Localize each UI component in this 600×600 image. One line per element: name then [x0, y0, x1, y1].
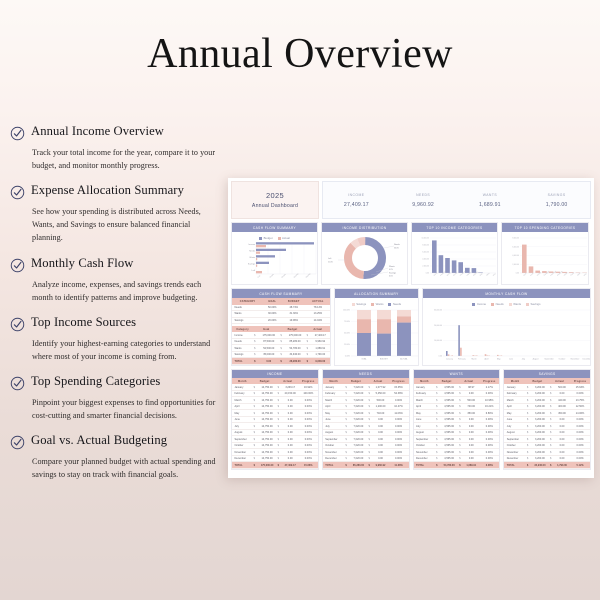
- svg-text:6,000.00: 6,000.00: [422, 252, 429, 254]
- feature-list: Annual Income Overview Track your total …: [10, 124, 228, 492]
- panel-income-distribution[interactable]: INCOME DISTRIBUTION: [321, 222, 408, 285]
- svg-text:Left: Left: [252, 269, 256, 272]
- spreadsheet-dashboard-preview[interactable]: 2025 Annual Dashboard INCOME 27,409.17 N…: [228, 178, 594, 478]
- feature-description: Track your total income for the year, co…: [32, 146, 222, 172]
- savings-rows: January$3,200.00$500.0015.63%February$3,…: [504, 384, 590, 468]
- svg-text:25.00%: 25.00%: [344, 344, 350, 346]
- page-title: Annual Overview: [0, 30, 600, 78]
- feature-description: Compare your planned budget with actual …: [32, 455, 222, 481]
- kpi-value: 1,790.00: [546, 202, 568, 208]
- needs-rows: January$7,020.00$1,077.9215.35%February$…: [323, 384, 409, 468]
- dashboard-subtitle: Annual Dashboard: [252, 203, 298, 209]
- check-circle-icon: [10, 258, 25, 273]
- table-total-row: TOTAL$85,280.00$9,960.9211.38%: [323, 462, 409, 469]
- kpi-value: 1,689.91: [479, 202, 501, 208]
- savings-monthly-table[interactable]: Month Budget Actual Progress January$3,2…: [504, 378, 590, 469]
- monthly-bar-chart: 30,000.0020,000.00 10,000.000.00: [425, 307, 591, 361]
- svg-text:50.00%: 50.00%: [344, 333, 350, 335]
- kpi-strip: INCOME 27,409.17 NEEDS 9,960.92 WANTS 1,…: [322, 181, 591, 219]
- axis-tick-label: May: [497, 359, 501, 361]
- svg-text:2,000.00: 2,000.00: [512, 264, 519, 266]
- table-total-row: TOTAL$175,000.00$27,409.1715.66%: [232, 462, 318, 469]
- svg-text:Other: Other: [485, 272, 490, 277]
- table-total-row: TOTAL$0.00$28,280.00$9,648.00: [232, 358, 330, 365]
- feature-title: Annual Income Overview: [31, 124, 164, 138]
- bar-chart-top-spending: 8,000.006,000.00 4,000.002,000.00 0.00: [504, 234, 588, 282]
- axis-tick-label: September: [544, 358, 554, 361]
- chart-legend: Income Needs Wants Savings: [425, 300, 588, 307]
- feature-title: Top Spending Categories: [31, 374, 160, 388]
- svg-text:36.3%: 36.3%: [394, 248, 399, 250]
- feature-description: See how your spending is distributed acr…: [32, 205, 222, 244]
- panel-allocation-summary[interactable]: ALLOCATION SUMMARY Savings Wants Needs: [334, 288, 419, 366]
- table-title: SAVINGS: [504, 370, 590, 378]
- svg-text:75.00%: 75.00%: [344, 321, 350, 323]
- table-panel-savings[interactable]: SAVINGS Month Budget Actual Progress Jan…: [503, 369, 591, 470]
- dashboard-header: 2025 Annual Dashboard INCOME 27,409.17 N…: [231, 181, 591, 219]
- check-circle-icon: [10, 126, 25, 141]
- svg-text:80,000: 80,000: [281, 274, 286, 279]
- legend-label: Wants: [376, 302, 384, 306]
- check-circle-icon: [10, 185, 25, 200]
- feature-title: Expense Allocation Summary: [31, 183, 184, 197]
- svg-text:Wants: Wants: [249, 256, 255, 259]
- feature-description: Analyze income, expenses, and savings tr…: [32, 278, 222, 304]
- svg-text:Transport: Transport: [543, 270, 550, 277]
- svg-text:Income: Income: [248, 244, 255, 246]
- kpi-wants: WANTS 1,689.91: [457, 182, 524, 218]
- legend-label: Savings: [356, 302, 366, 306]
- donut-label: Left: [328, 257, 332, 260]
- axis-tick-label: ACTUAL: [400, 358, 407, 361]
- horizontal-bar-chart: IncomeNeeds WantsSavings Left: [234, 241, 317, 281]
- feature-item: Top Income Sources Identify your highest…: [10, 315, 228, 363]
- section-title: CASH FLOW SUMMARY: [232, 289, 330, 298]
- section-title: INCOME DISTRIBUTION: [322, 223, 407, 232]
- panel-top-income-categories[interactable]: TOP 10 INCOME CATEGORIES 10,000.008,000.…: [411, 222, 498, 285]
- axis-tick-label: January: [446, 358, 453, 361]
- svg-text:0.00%: 0.00%: [345, 356, 350, 358]
- axis-tick-label: April: [484, 358, 488, 361]
- bar-chart-top-income: 10,000.008,000.00 6,000.004,000.00 2,000…: [414, 234, 497, 282]
- feature-description: Pinpoint your biggest expenses to find o…: [32, 396, 222, 422]
- income-monthly-table[interactable]: Month Budget Actual Progress January$14,…: [232, 378, 318, 469]
- monthly-tables-row: INCOME Month Budget Actual Progress Janu…: [231, 369, 591, 470]
- donut-chart: Left 51.3% Needs 36.3% Wants 6.2% Saving…: [324, 234, 407, 282]
- svg-text:Insurance: Insurance: [550, 271, 557, 277]
- table-panel-wants[interactable]: WANTS Month Budget Actual Progress Janua…: [413, 369, 501, 470]
- axis-tick-label: October: [559, 358, 566, 361]
- axis-tick-label: August: [533, 358, 539, 361]
- feature-item: Annual Income Overview Track your total …: [10, 124, 228, 172]
- income-rows: January$14,750.00$3,269.1716.92%February…: [232, 384, 318, 468]
- svg-text:0.00: 0.00: [257, 275, 261, 279]
- svg-text:0.00: 0.00: [516, 273, 519, 275]
- svg-text:Other: Other: [576, 272, 581, 277]
- svg-text:6.2%: 6.2%: [389, 269, 393, 271]
- legend-label: Wants: [513, 302, 521, 306]
- axis-tick-label: March: [471, 358, 476, 361]
- check-circle-icon: [10, 435, 25, 450]
- kpi-label: WANTS: [483, 193, 497, 197]
- svg-text:6,000.00: 6,000.00: [512, 246, 519, 248]
- axis-tick-label: BUDGET: [380, 359, 389, 361]
- donut-label: Needs: [394, 244, 400, 246]
- svg-text:0.00: 0.00: [438, 356, 442, 358]
- svg-text:Misc: Misc: [584, 273, 588, 277]
- axis-tick-label: February: [458, 358, 466, 361]
- axis-tick-label: GOAL: [361, 358, 366, 361]
- feature-item: Top Spending Categories Pinpoint your bi…: [10, 374, 228, 422]
- feature-item: Monthly Cash Flow Analyze income, expens…: [10, 256, 228, 304]
- table-total-row: TOTAL$34,940.00$1,790.005.12%: [504, 462, 590, 469]
- table-panel-needs[interactable]: NEEDS Month Budget Actual Progress Janua…: [322, 369, 410, 470]
- dashboard-brand: 2025 Annual Dashboard: [231, 181, 319, 219]
- kpi-label: SAVINGS: [548, 193, 566, 197]
- ratio-table[interactable]: CATEGORY GOAL BUDGET ACTUAL Needs50.00%4…: [232, 298, 330, 324]
- axis-tick-label: July: [522, 359, 525, 361]
- svg-text:Needs: Needs: [249, 251, 255, 253]
- axis-tick-label: June: [509, 359, 513, 361]
- chart-legend: Savings Wants Needs: [337, 300, 416, 307]
- charts-row-1: CASH FLOW SUMMARY Budget Actual Inco: [231, 222, 591, 285]
- check-circle-icon: [10, 376, 25, 391]
- kpi-label: INCOME: [348, 193, 364, 197]
- svg-text:10,000.00: 10,000.00: [421, 238, 429, 240]
- table-total-row: TOTAL$54,780.00$1,689.913.08%: [414, 462, 500, 469]
- panel-cash-flow-tables[interactable]: CASH FLOW SUMMARY CATEGORY GOAL BUDGET A…: [231, 288, 331, 366]
- svg-text:0.00: 0.00: [426, 273, 429, 275]
- section-title: MONTHLY CASH FLOW: [423, 289, 590, 298]
- svg-text:30,000.00: 30,000.00: [434, 310, 442, 312]
- check-circle-icon: [10, 317, 25, 332]
- axis-tick-label: November: [571, 358, 580, 361]
- svg-text:Food: Food: [530, 273, 534, 277]
- stacked-bar-chart: 100.00%75.00% 50.00%25.00% 0.00%: [337, 307, 419, 361]
- svg-text:4,000.00: 4,000.00: [422, 259, 429, 261]
- feature-title: Monthly Cash Flow: [31, 256, 133, 270]
- kpi-value: 9,960.92: [412, 202, 434, 208]
- wants-rows: January$4,565.00$98.972.17%February$4,56…: [414, 384, 500, 468]
- svg-text:Savings: Savings: [248, 264, 255, 266]
- kpi-value: 27,409.17: [344, 202, 369, 208]
- legend-label: Savings: [531, 302, 541, 306]
- feature-description: Identify your highest-earning categories…: [32, 337, 222, 363]
- kpi-income: INCOME 27,409.17: [323, 182, 390, 218]
- svg-text:6.5%: 6.5%: [389, 276, 393, 278]
- svg-text:8,000.00: 8,000.00: [512, 238, 519, 240]
- axis-tick-label: December: [583, 358, 591, 361]
- table-title: WANTS: [414, 370, 500, 378]
- legend-label: Needs: [393, 302, 401, 306]
- summary-table[interactable]: Category Goal Budget Actual Income$175,0…: [232, 326, 330, 365]
- wants-monthly-table[interactable]: Month Budget Actual Progress January$4,5…: [414, 378, 500, 469]
- svg-text:8,000.00: 8,000.00: [422, 245, 429, 247]
- charts-row-2: CASH FLOW SUMMARY CATEGORY GOAL BUDGET A…: [231, 288, 591, 366]
- section-title: CASH FLOW SUMMARY: [232, 223, 317, 232]
- feature-title: Goal vs. Actual Budgeting: [31, 433, 167, 447]
- table-row: Savings20.00%19.96%14.04%: [232, 317, 330, 324]
- kpi-savings: SAVINGS 1,790.00: [523, 182, 590, 218]
- panel-top-spending-categories[interactable]: TOP 10 SPENDING CATEGORIES 8,000.006,000…: [501, 222, 589, 285]
- legend-label: Income: [477, 302, 486, 306]
- svg-text:2,000.00: 2,000.00: [422, 266, 429, 268]
- legend-label: Budget: [264, 236, 273, 240]
- section-title: TOP 10 SPENDING CATEGORIES: [502, 223, 588, 232]
- svg-text:4,000.00: 4,000.00: [512, 255, 519, 257]
- svg-text:10,000.00: 10,000.00: [434, 341, 442, 343]
- svg-text:Misc: Misc: [493, 273, 497, 277]
- donut-label: Savings: [389, 273, 396, 275]
- panel-monthly-cash-flow[interactable]: MONTHLY CASH FLOW Income Needs Wants Sav…: [422, 288, 591, 366]
- panel-cash-flow-summary[interactable]: CASH FLOW SUMMARY Budget Actual Inco: [231, 222, 318, 285]
- svg-text:51.3%: 51.3%: [328, 262, 333, 264]
- dashboard-year: 2025: [266, 191, 284, 200]
- kpi-label: NEEDS: [416, 193, 430, 197]
- feature-title: Top Income Sources: [31, 315, 136, 329]
- kpi-needs: NEEDS 9,960.92: [390, 182, 457, 218]
- legend-label: Actual: [282, 236, 290, 240]
- svg-text:40,000: 40,000: [269, 274, 274, 279]
- feature-item: Expense Allocation Summary See how your …: [10, 183, 228, 244]
- chart-legend: Budget Actual: [234, 234, 315, 241]
- table-title: NEEDS: [323, 370, 409, 378]
- svg-text:Shopping: Shopping: [557, 271, 563, 277]
- table-panel-income[interactable]: INCOME Month Budget Actual Progress Janu…: [231, 369, 319, 470]
- legend-label: Needs: [496, 302, 504, 306]
- section-title: TOP 10 INCOME CATEGORIES: [412, 223, 497, 232]
- donut-label: Wants: [389, 265, 395, 268]
- svg-text:20,000.00: 20,000.00: [434, 325, 442, 327]
- svg-text:100.00%: 100.00%: [343, 310, 350, 312]
- feature-item: Goal vs. Actual Budgeting Compare your p…: [10, 433, 228, 481]
- table-title: INCOME: [232, 370, 318, 378]
- needs-monthly-table[interactable]: Month Budget Actual Progress January$7,0…: [323, 378, 409, 469]
- section-title: ALLOCATION SUMMARY: [335, 289, 418, 298]
